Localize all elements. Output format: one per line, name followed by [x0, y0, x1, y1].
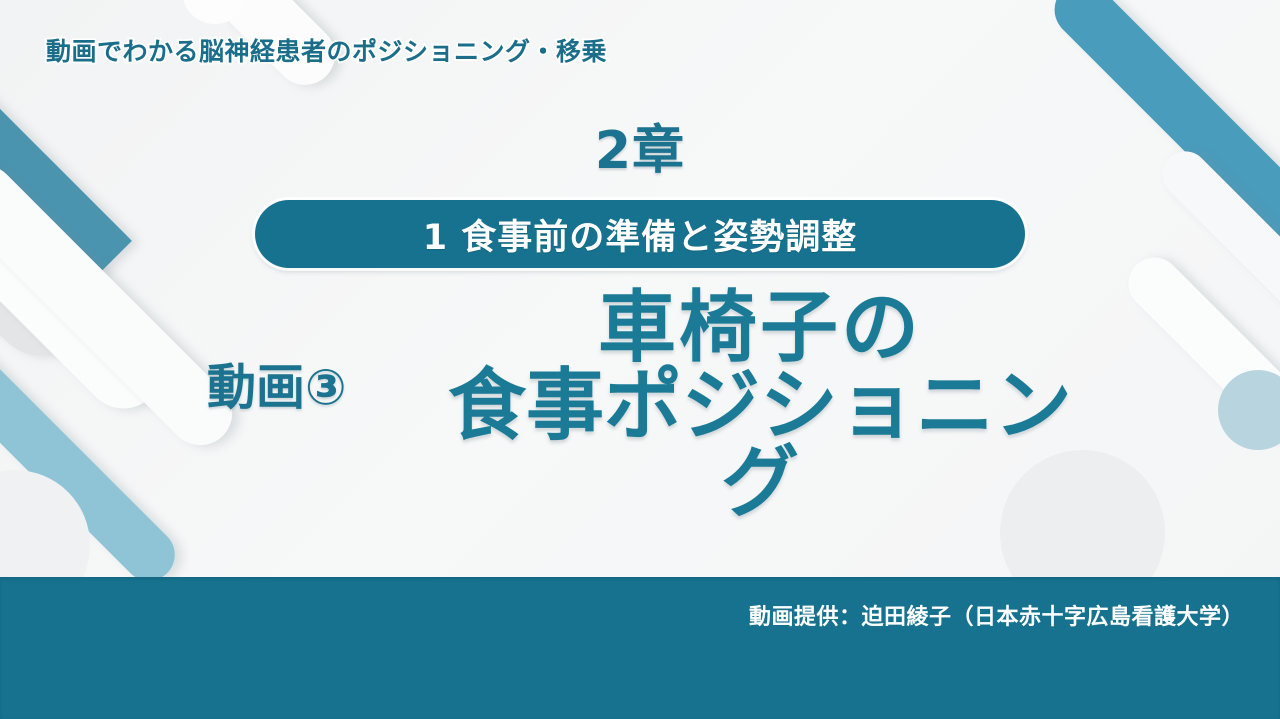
main-title-line-2: 食事ポジショニング [430, 368, 1090, 521]
content-layer: 動画でわかる脳神経患者のポジショニング・移乗 2章 1 食事前の準備と姿勢調整 … [0, 0, 1280, 719]
main-title: 車椅子の 食事ポジショニング [430, 290, 1090, 521]
video-number-badge: 動画③ [207, 348, 347, 419]
section-pill-label: 1 食事前の準備と姿勢調整 [423, 209, 858, 260]
main-title-line-1: 車椅子の [430, 290, 1090, 366]
footer-credit-text: 動画提供：迫田綾子（日本赤十字広島看護大学） [749, 599, 1244, 631]
section-pill: 1 食事前の準備と姿勢調整 [255, 200, 1025, 268]
page-title: 動画でわかる脳神経患者のポジショニング・移乗 [46, 32, 607, 68]
chapter-label: 2章 [0, 108, 1280, 183]
footer-band: 動画提供：迫田綾子（日本赤十字広島看護大学） [0, 577, 1280, 719]
title-card: 動画でわかる脳神経患者のポジショニング・移乗 2章 1 食事前の準備と姿勢調整 … [0, 0, 1280, 719]
